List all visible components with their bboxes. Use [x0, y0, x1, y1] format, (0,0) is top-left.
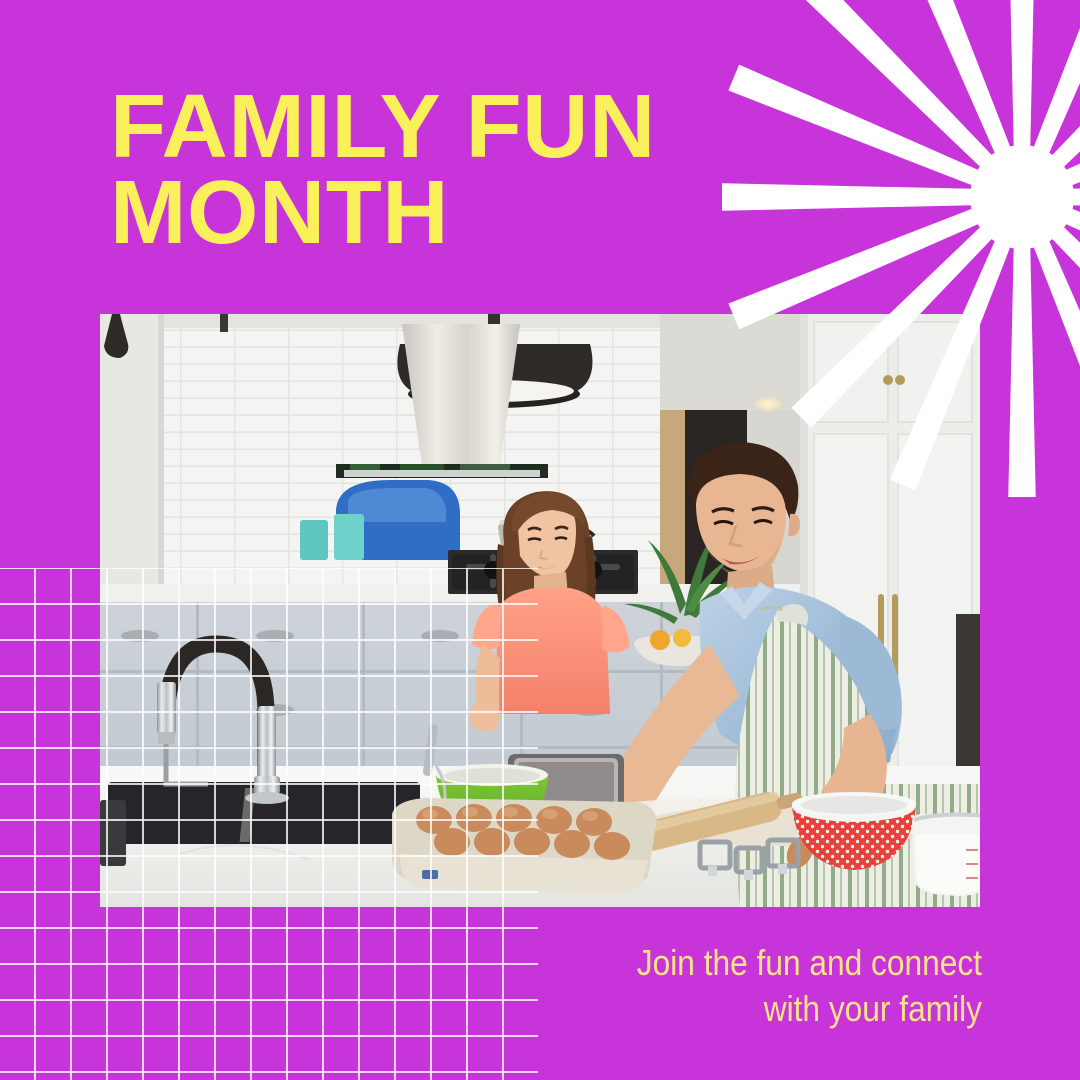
- hero-photo: [100, 314, 980, 907]
- subtitle: Join the fun and connect with your famil…: [524, 940, 982, 1032]
- subtitle-line-1: Join the fun and connect: [524, 940, 982, 986]
- title-line-2: MONTH: [110, 170, 742, 256]
- page-title: FAMILY FUN MONTH: [110, 84, 730, 257]
- subtitle-line-2: with your family: [524, 986, 982, 1032]
- title-line-1: FAMILY FUN: [110, 84, 742, 170]
- poster-canvas: FAMILY FUN MONTH Join the fun and connec…: [0, 0, 1080, 1080]
